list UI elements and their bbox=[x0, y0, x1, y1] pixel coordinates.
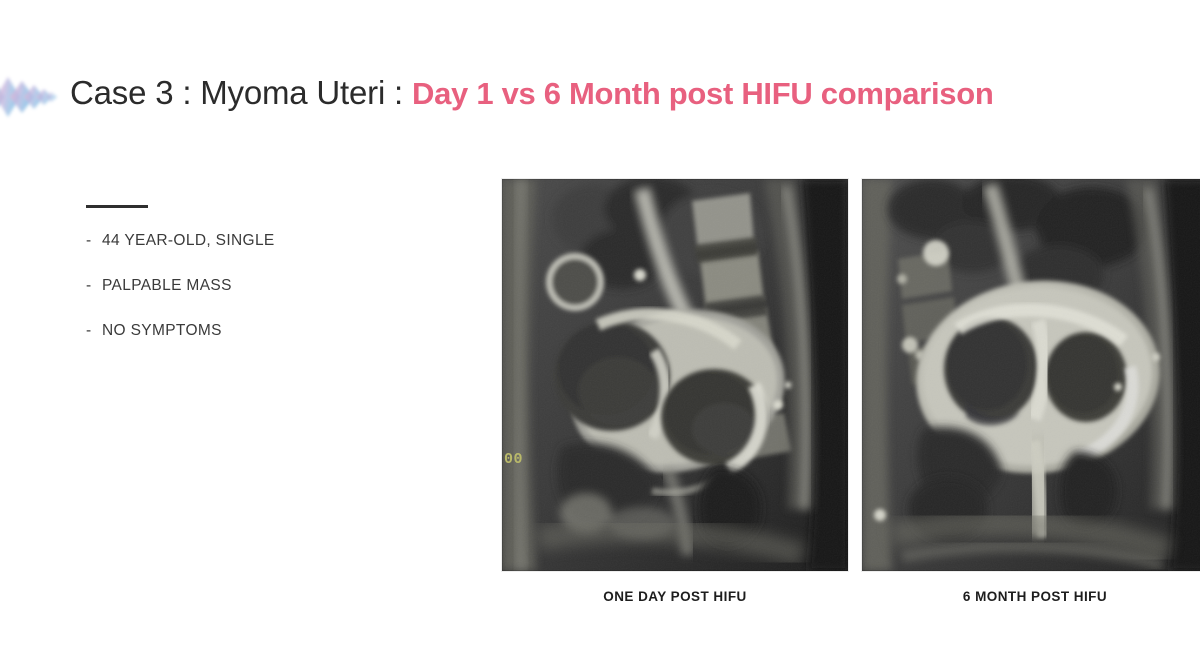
figure-six-month-post-hifu: 6 MONTH POST HIFU bbox=[862, 179, 1200, 604]
list-item: - 44 YEAR-OLD, SINGLE bbox=[86, 232, 416, 249]
figure-one-day-post-hifu: 00 ONE DAY POST HIFU bbox=[502, 179, 848, 604]
slide-canvas: Case 3 : Myoma Uteri : Day 1 vs 6 Month … bbox=[0, 0, 1200, 660]
slide-title: Case 3 : Myoma Uteri : Day 1 vs 6 Month … bbox=[70, 74, 993, 120]
mri-image-day1: 00 bbox=[502, 179, 848, 571]
scan-overlay-text: 00 bbox=[504, 451, 523, 468]
list-item: - NO SYMPTOMS bbox=[86, 322, 416, 339]
case-info-label: 44 YEAR-OLD, SINGLE bbox=[102, 232, 275, 249]
case-info-block: - 44 YEAR-OLD, SINGLE - PALPABLE MASS - … bbox=[86, 205, 416, 367]
mri-image-6month bbox=[862, 179, 1200, 571]
case-info-label: PALPABLE MASS bbox=[102, 277, 232, 294]
bullet-dash-icon: - bbox=[86, 277, 102, 294]
mri-comparison-figures: 00 ONE DAY POST HIFU bbox=[462, 163, 1168, 593]
section-rule-divider bbox=[86, 205, 148, 208]
gradient-wave-logo-icon bbox=[0, 72, 60, 122]
case-info-label: NO SYMPTOMS bbox=[102, 322, 222, 339]
case-info-list: - 44 YEAR-OLD, SINGLE - PALPABLE MASS - … bbox=[86, 232, 416, 339]
figure-caption-six-month: 6 MONTH POST HIFU bbox=[862, 589, 1200, 604]
title-accent-text: Day 1 vs 6 Month post HIFU comparison bbox=[412, 76, 993, 112]
figure-caption-one-day: ONE DAY POST HIFU bbox=[502, 589, 848, 604]
bullet-dash-icon: - bbox=[86, 322, 102, 339]
list-item: - PALPABLE MASS bbox=[86, 277, 416, 294]
bullet-dash-icon: - bbox=[86, 232, 102, 249]
title-main-text: Case 3 : Myoma Uteri : bbox=[70, 74, 403, 112]
